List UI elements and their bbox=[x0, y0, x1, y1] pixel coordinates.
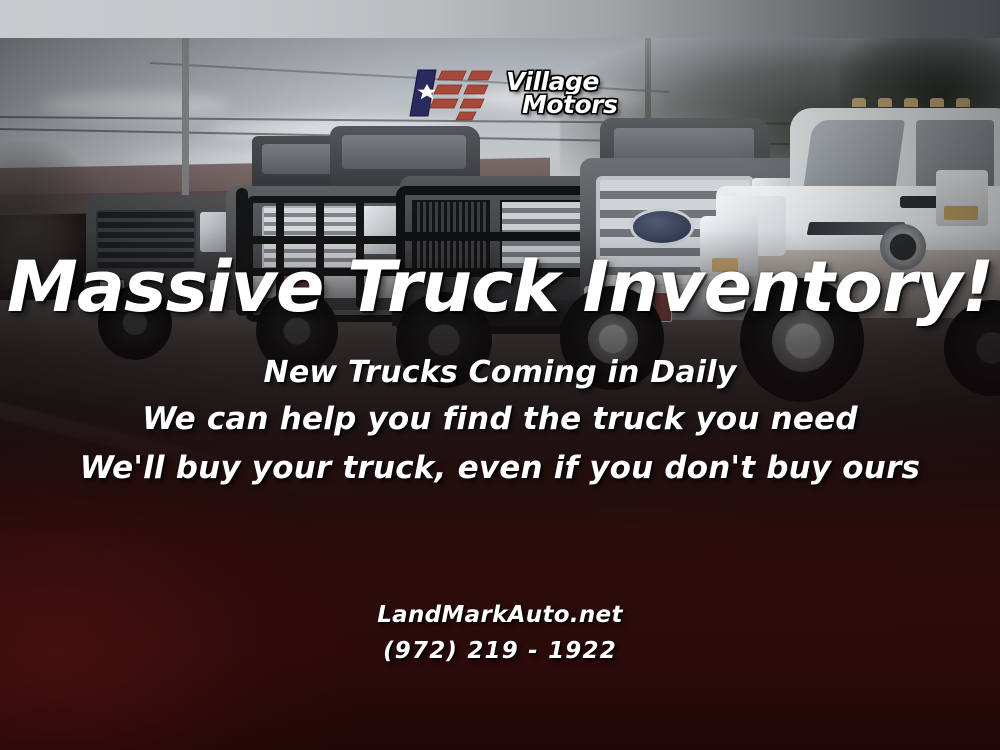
subline-2: We can help you find the truck you need bbox=[0, 401, 1000, 437]
phone-number[interactable]: (972) 219 - 1922 bbox=[0, 638, 1000, 664]
headline: Massive Truck Inventory! bbox=[0, 252, 1000, 322]
subline-1: New Trucks Coming in Daily bbox=[0, 355, 1000, 390]
promo-banner: Village Motors Massive Truck Inventory! … bbox=[0, 0, 1000, 750]
website-link[interactable]: LandMarkAuto.net bbox=[0, 602, 1000, 628]
banner-copy: Massive Truck Inventory! New Trucks Comi… bbox=[0, 0, 1000, 750]
subline-3: We'll buy your truck, even if you don't … bbox=[0, 450, 1000, 486]
